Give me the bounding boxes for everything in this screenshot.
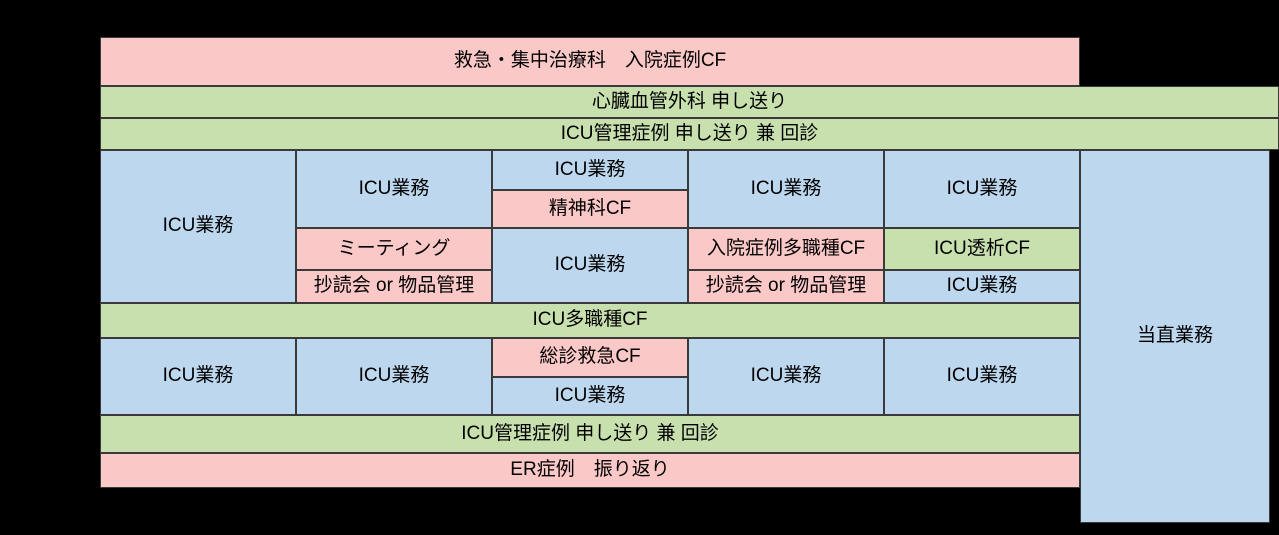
- morning-col5-icu-dialysis-cf-label: ICU透析CF: [934, 239, 1030, 260]
- row-icu-handover-round-morning-label: ICU管理症例 申し送り 兼 回診: [561, 124, 819, 145]
- afternoon-col2-icu-work: ICU業務: [296, 338, 492, 415]
- morning-col5-icu-work-upper-label: ICU業務: [947, 179, 1018, 200]
- row-icu-handover-round-morning: ICU管理症例 申し送り 兼 回診: [100, 118, 1279, 150]
- afternoon-col3-icu-work-label: ICU業務: [555, 386, 626, 407]
- morning-col3-psychiatry-cf: 精神科CF: [492, 190, 688, 228]
- night-duty-column-label: 当直業務: [1137, 326, 1213, 347]
- morning-col5-icu-work-upper: ICU業務: [884, 150, 1080, 228]
- afternoon-col3-general-emergency-cf: 総診救急CF: [492, 338, 688, 377]
- morning-col4-journal-club-label: 抄読会 or 物品管理: [706, 276, 866, 297]
- morning-col2-icu-work: ICU業務: [296, 150, 492, 228]
- afternoon-col1-icu-work: ICU業務: [100, 338, 296, 415]
- morning-col4-icu-work: ICU業務: [688, 150, 884, 228]
- morning-col4-icu-work-label: ICU業務: [751, 179, 822, 200]
- morning-col5-icu-work-lower: ICU業務: [884, 270, 1080, 303]
- afternoon-col2-icu-work-label: ICU業務: [359, 366, 430, 387]
- row-er-case-review: ER症例 振り返り: [100, 453, 1080, 488]
- row-icu-multidisciplinary-cf-label: ICU多職種CF: [532, 310, 647, 331]
- morning-col4-admission-multidisciplinary-cf-label: 入院症例多職種CF: [707, 239, 865, 260]
- morning-col2-meeting: ミーティング: [296, 228, 492, 270]
- morning-col3-icu-work-lower-label: ICU業務: [555, 255, 626, 276]
- afternoon-col3-icu-work: ICU業務: [492, 377, 688, 415]
- afternoon-col5-icu-work: ICU業務: [884, 338, 1080, 415]
- morning-col5-icu-dialysis-cf: ICU透析CF: [884, 228, 1080, 270]
- afternoon-col5-icu-work-label: ICU業務: [947, 366, 1018, 387]
- morning-col5-icu-work-lower-label: ICU業務: [947, 276, 1018, 297]
- morning-col3-icu-work-upper-label: ICU業務: [555, 160, 626, 181]
- morning-col3-psychiatry-cf-label: 精神科CF: [549, 199, 631, 220]
- afternoon-col1-icu-work-label: ICU業務: [163, 366, 234, 387]
- afternoon-col4-icu-work-label: ICU業務: [751, 366, 822, 387]
- morning-col1-icu-work: ICU業務: [100, 150, 296, 303]
- morning-col4-admission-multidisciplinary-cf: 入院症例多職種CF: [688, 228, 884, 270]
- night-duty-column: 当直業務: [1080, 150, 1270, 523]
- morning-col2-icu-work-label: ICU業務: [359, 179, 430, 200]
- morning-col1-icu-work-label: ICU業務: [163, 216, 234, 237]
- row-icu-multidisciplinary-cf: ICU多職種CF: [100, 303, 1080, 338]
- row-icu-handover-round-evening: ICU管理症例 申し送り 兼 回診: [100, 415, 1080, 453]
- morning-col2-journal-club-label: 抄読会 or 物品管理: [314, 276, 474, 297]
- afternoon-col4-icu-work: ICU業務: [688, 338, 884, 415]
- morning-col3-icu-work-upper: ICU業務: [492, 150, 688, 190]
- row-icu-handover-round-evening-label: ICU管理症例 申し送り 兼 回診: [461, 424, 719, 445]
- afternoon-col3-general-emergency-cf-label: 総診救急CF: [539, 347, 640, 368]
- row-cvs-handover-label: 心臓血管外科 申し送り: [592, 92, 787, 113]
- morning-col2-journal-club: 抄読会 or 物品管理: [296, 270, 492, 303]
- row-cvs-handover: 心臓血管外科 申し送り: [100, 86, 1279, 118]
- row-admission-case-cf: 救急・集中治療科 入院症例CF: [100, 37, 1080, 86]
- morning-col2-meeting-label: ミーティング: [338, 239, 451, 260]
- morning-col4-journal-club: 抄読会 or 物品管理: [688, 270, 884, 303]
- row-er-case-review-label: ER症例 振り返り: [510, 460, 669, 481]
- morning-col3-icu-work-lower: ICU業務: [492, 228, 688, 303]
- row-admission-case-cf-label: 救急・集中治療科 入院症例CF: [454, 51, 726, 72]
